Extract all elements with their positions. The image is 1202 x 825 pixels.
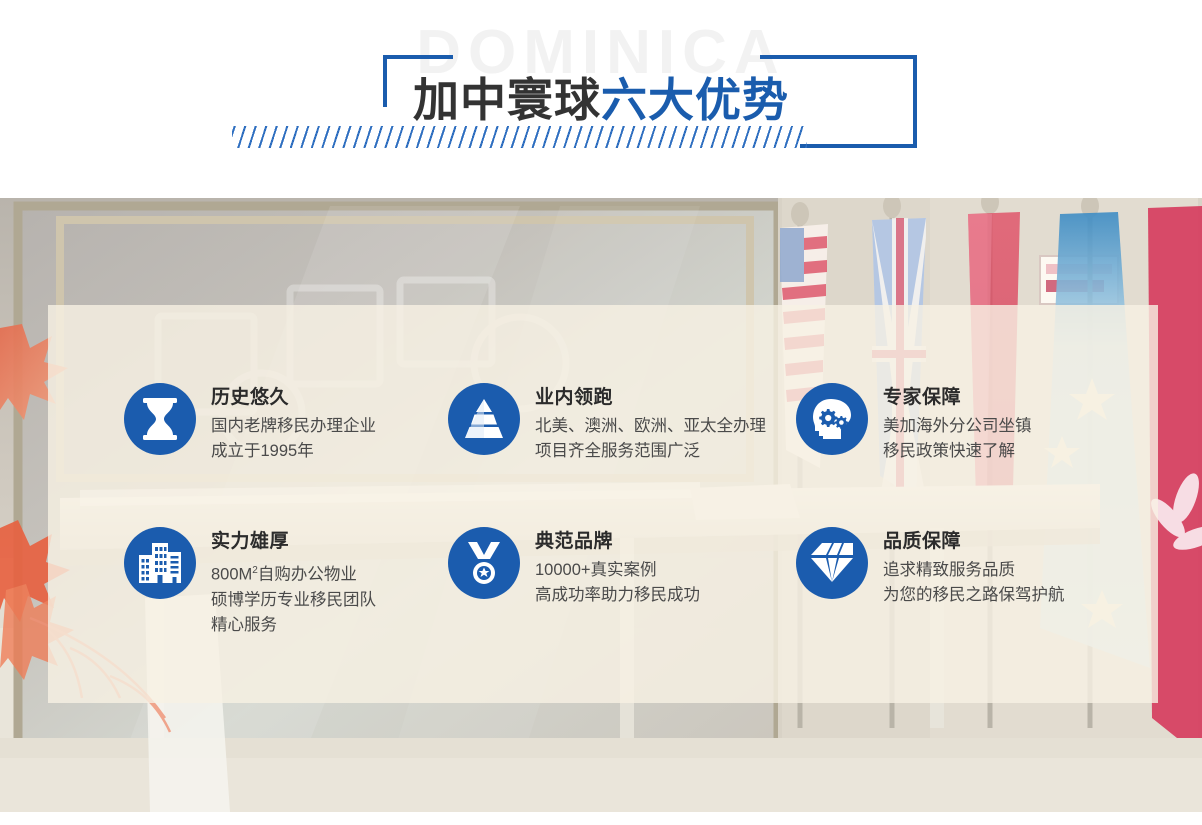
feature-text: 业内领跑 北美、澳洲、欧洲、亚太全办理 项目齐全服务范围广泛 — [535, 383, 766, 464]
feature-line-2: 高成功率助力移民成功 — [535, 583, 700, 608]
page-title-accent: 六大优势 — [601, 74, 789, 126]
feature-title: 专家保障 — [883, 385, 1032, 411]
feature-line-1: 800M2自购办公物业 — [211, 558, 376, 588]
feature-text: 专家保障 美加海外分公司坐镇 移民政策快速了解 — [883, 383, 1032, 464]
feature-card-brand[interactable]: 典范品牌 10000+真实案例 高成功率助力移民成功 — [448, 527, 700, 608]
feature-line-1: 追求精致服务品质 — [883, 558, 1065, 583]
feature-text: 历史悠久 国内老牌移民办理企业 成立于1995年 — [211, 383, 376, 464]
feature-line-1: 10000+真实案例 — [535, 558, 700, 583]
feature-title: 实力雄厚 — [211, 529, 376, 555]
page-title: 加中寰球六大优势 — [0, 72, 1202, 128]
feature-line-2: 移民政策快速了解 — [883, 439, 1032, 464]
feature-card-history[interactable]: 历史悠久 国内老牌移民办理企业 成立于1995年 — [124, 383, 376, 464]
feature-title: 品质保障 — [883, 529, 1065, 555]
decor-hatch-band — [232, 126, 807, 148]
background-photo: 历史悠久 国内老牌移民办理企业 成立于1995年 — [0, 198, 1202, 812]
area-suffix: 自购办公物业 — [258, 566, 357, 584]
feature-title: 典范品牌 — [535, 529, 700, 555]
feature-card-leadership[interactable]: 业内领跑 北美、澳洲、欧洲、亚太全办理 项目齐全服务范围广泛 — [448, 383, 766, 464]
diamond-icon — [796, 527, 868, 599]
promo-page: DOMINICA 加中寰球六大优势 — [0, 0, 1202, 825]
feature-line-2: 为您的移民之路保驾护航 — [883, 583, 1065, 608]
feature-card-experts[interactable]: 专家保障 美加海外分公司坐镇 移民政策快速了解 — [796, 383, 1032, 464]
feature-panel: 历史悠久 国内老牌移民办理企业 成立于1995年 — [48, 305, 1158, 703]
area-value: 800M — [211, 566, 252, 584]
head-gears-icon — [796, 383, 868, 455]
buildings-icon — [124, 527, 196, 599]
feature-line-3: 精心服务 — [211, 613, 376, 638]
feature-line-2: 项目齐全服务范围广泛 — [535, 439, 766, 464]
feature-line-2: 成立于1995年 — [211, 439, 376, 464]
feature-card-quality[interactable]: 品质保障 追求精致服务品质 为您的移民之路保驾护航 — [796, 527, 1065, 608]
feature-card-strength[interactable]: 实力雄厚 800M2自购办公物业 硕博学历专业移民团队 精心服务 — [124, 527, 376, 638]
feature-line-1: 美加海外分公司坐镇 — [883, 414, 1032, 439]
hourglass-icon — [124, 383, 196, 455]
medal-icon — [448, 527, 520, 599]
page-header: DOMINICA 加中寰球六大优势 — [0, 0, 1202, 198]
feature-text: 实力雄厚 800M2自购办公物业 硕博学历专业移民团队 精心服务 — [211, 527, 376, 638]
page-title-primary: 加中寰球 — [413, 74, 601, 126]
pyramid-icon — [448, 383, 520, 455]
feature-line-1: 北美、澳洲、欧洲、亚太全办理 — [535, 414, 766, 439]
feature-line-1: 国内老牌移民办理企业 — [211, 414, 376, 439]
feature-grid: 历史悠久 国内老牌移民办理企业 成立于1995年 — [48, 305, 1158, 703]
feature-line-2: 硕博学历专业移民团队 — [211, 588, 376, 613]
feature-title: 历史悠久 — [211, 385, 376, 411]
feature-title: 业内领跑 — [535, 385, 766, 411]
decor-bracket-right-stub — [760, 55, 804, 59]
feature-text: 品质保障 追求精致服务品质 为您的移民之路保驾护航 — [883, 527, 1065, 608]
feature-text: 典范品牌 10000+真实案例 高成功率助力移民成功 — [535, 527, 700, 608]
bottom-spacer — [0, 812, 1202, 825]
